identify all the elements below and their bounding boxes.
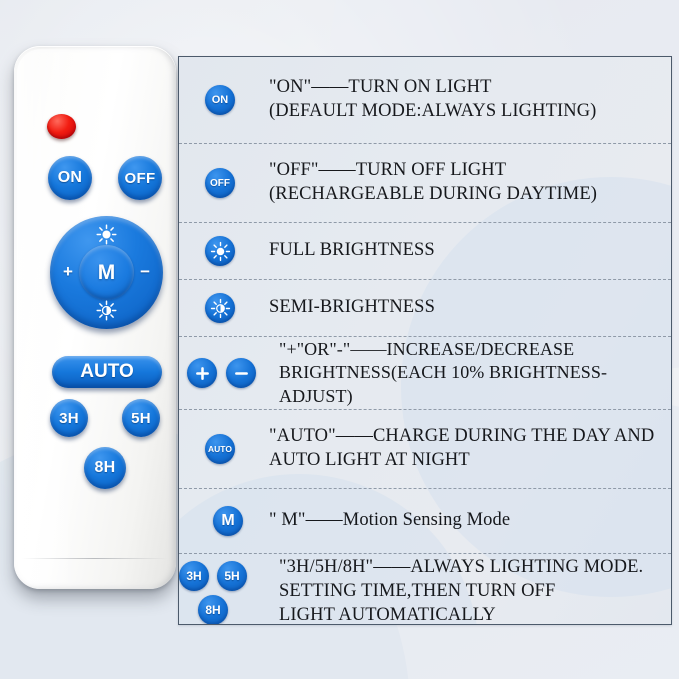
remote-3h-button[interactable]: 3H	[50, 399, 88, 437]
legend-row-on: ON "ON"——TURN ON LIGHT (DEFAULT MODE:ALW…	[179, 57, 671, 144]
minus-chip-icon	[226, 358, 256, 388]
legend-icons: AUTO	[205, 410, 269, 488]
off-chip-icon: OFF	[205, 168, 235, 198]
legend-row-full-brightness: FULL BRIGHTNESS	[179, 223, 671, 280]
remote-plus-label[interactable]: +	[63, 262, 73, 282]
legend-panel: ON "ON"——TURN ON LIGHT (DEFAULT MODE:ALW…	[178, 56, 672, 625]
indicator-led	[47, 114, 76, 139]
legend-icons: OFF	[205, 144, 269, 222]
remote-8h-button[interactable]: 8H	[84, 447, 126, 489]
legend-icons: ON	[205, 57, 269, 143]
plus-minus-group	[187, 358, 256, 388]
legend-text: " M"——Motion Sensing Mode	[269, 509, 510, 533]
legend-row-off: OFF "OFF"——TURN OFF LIGHT (RECHARGEABLE …	[179, 144, 671, 223]
legend-text: "ON"——TURN ON LIGHT (DEFAULT MODE:ALWAYS…	[269, 76, 596, 123]
legend-text: "3H/5H/8H"——ALWAYS LIGHTING MODE. SETTIN…	[279, 556, 643, 625]
remote-control-device: ON OFF + − M	[14, 46, 176, 589]
legend-icons	[205, 280, 269, 336]
remote-auto-button[interactable]: AUTO	[52, 356, 162, 388]
remote-dpad[interactable]: + − M	[50, 216, 163, 329]
legend-text: FULL BRIGHTNESS	[269, 239, 435, 263]
full-sun-chip-icon	[205, 236, 235, 266]
legend-icons: M	[213, 489, 269, 553]
auto-chip-icon: AUTO	[205, 434, 235, 464]
legend-row-motion: M " M"——Motion Sensing Mode	[179, 489, 671, 554]
remote-5h-button[interactable]: 5H	[122, 399, 160, 437]
remote-off-button[interactable]: OFF	[118, 156, 162, 200]
8h-chip-icon: 8H	[198, 595, 228, 625]
timer-chip-group: 3H 5H 8H	[179, 561, 251, 625]
5h-chip-icon: 5H	[217, 561, 247, 591]
legend-row-timers: 3H 5H 8H "3H/5H/8H"——ALWAYS LIGHTING MOD…	[179, 554, 671, 625]
legend-row-plus-minus: "+"OR"-"——INCREASE/DECREASE BRIGHTNESS(E…	[179, 337, 671, 410]
screenshot-stage: ON OFF + − M	[0, 0, 679, 679]
remote-minus-label[interactable]: −	[140, 262, 150, 282]
remote-mode-button[interactable]: M	[79, 245, 134, 300]
legend-icons	[205, 223, 269, 279]
legend-icons	[197, 337, 279, 409]
remote-on-button[interactable]: ON	[48, 156, 92, 200]
m-chip-icon: M	[213, 506, 243, 536]
legend-row-auto: AUTO "AUTO"——CHARGE DURING THE DAY AND A…	[179, 410, 671, 489]
full-sun-icon[interactable]	[96, 224, 117, 245]
legend-text: "OFF"——TURN OFF LIGHT (RECHARGEABLE DURI…	[269, 159, 597, 206]
legend-row-semi-brightness: SEMI-BRIGHTNESS	[179, 280, 671, 337]
plus-chip-icon	[187, 358, 217, 388]
3h-chip-icon: 3H	[179, 561, 209, 591]
half-sun-icon[interactable]	[96, 300, 117, 321]
legend-text: "AUTO"——CHARGE DURING THE DAY AND AUTO L…	[269, 425, 654, 472]
legend-row-list: ON "ON"——TURN ON LIGHT (DEFAULT MODE:ALW…	[179, 57, 671, 624]
legend-text: "+"OR"-"——INCREASE/DECREASE BRIGHTNESS(E…	[279, 338, 665, 407]
legend-icons: 3H 5H 8H	[193, 547, 279, 625]
half-sun-chip-icon	[205, 293, 235, 323]
on-chip-icon: ON	[205, 85, 235, 115]
legend-text: SEMI-BRIGHTNESS	[269, 296, 435, 320]
